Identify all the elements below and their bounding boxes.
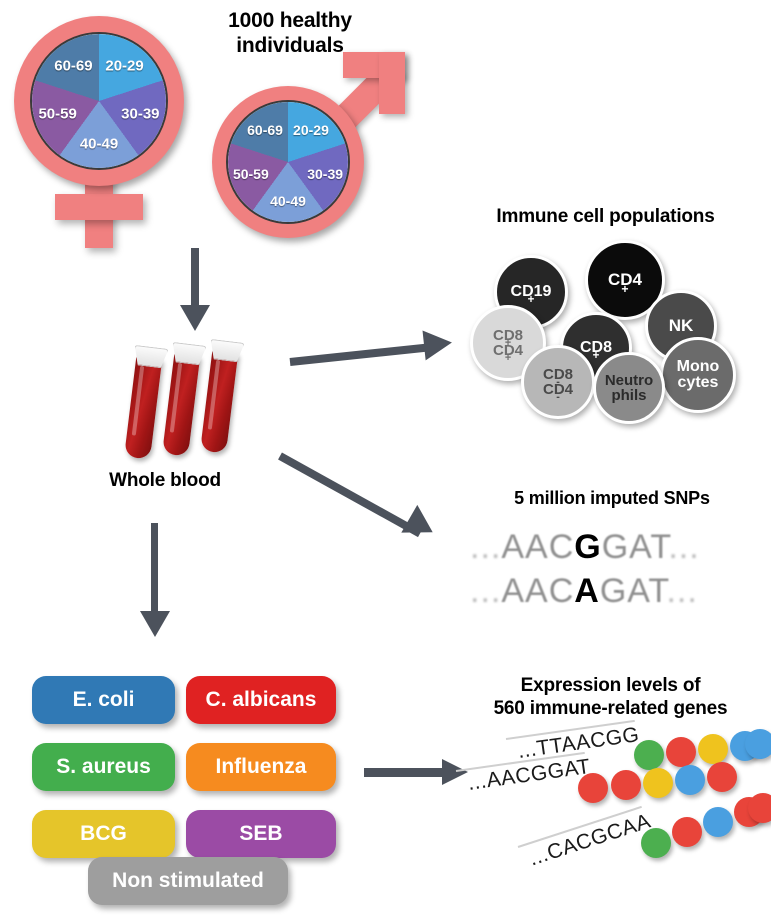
gene-bead	[703, 807, 733, 837]
gene-bead	[672, 817, 702, 847]
expression-strand-group: ...TTAACGG...AACGGAT...CACGCAA	[0, 0, 771, 922]
gene-bead	[748, 793, 771, 823]
gene-bead	[641, 828, 671, 858]
figure-canvas: 1000 healthy individuals 20-2930-3940-49…	[0, 0, 771, 922]
dna-sequence-text: ...CACGCAA	[526, 810, 654, 872]
dna-strand: ...CACGCAA	[0, 0, 771, 922]
